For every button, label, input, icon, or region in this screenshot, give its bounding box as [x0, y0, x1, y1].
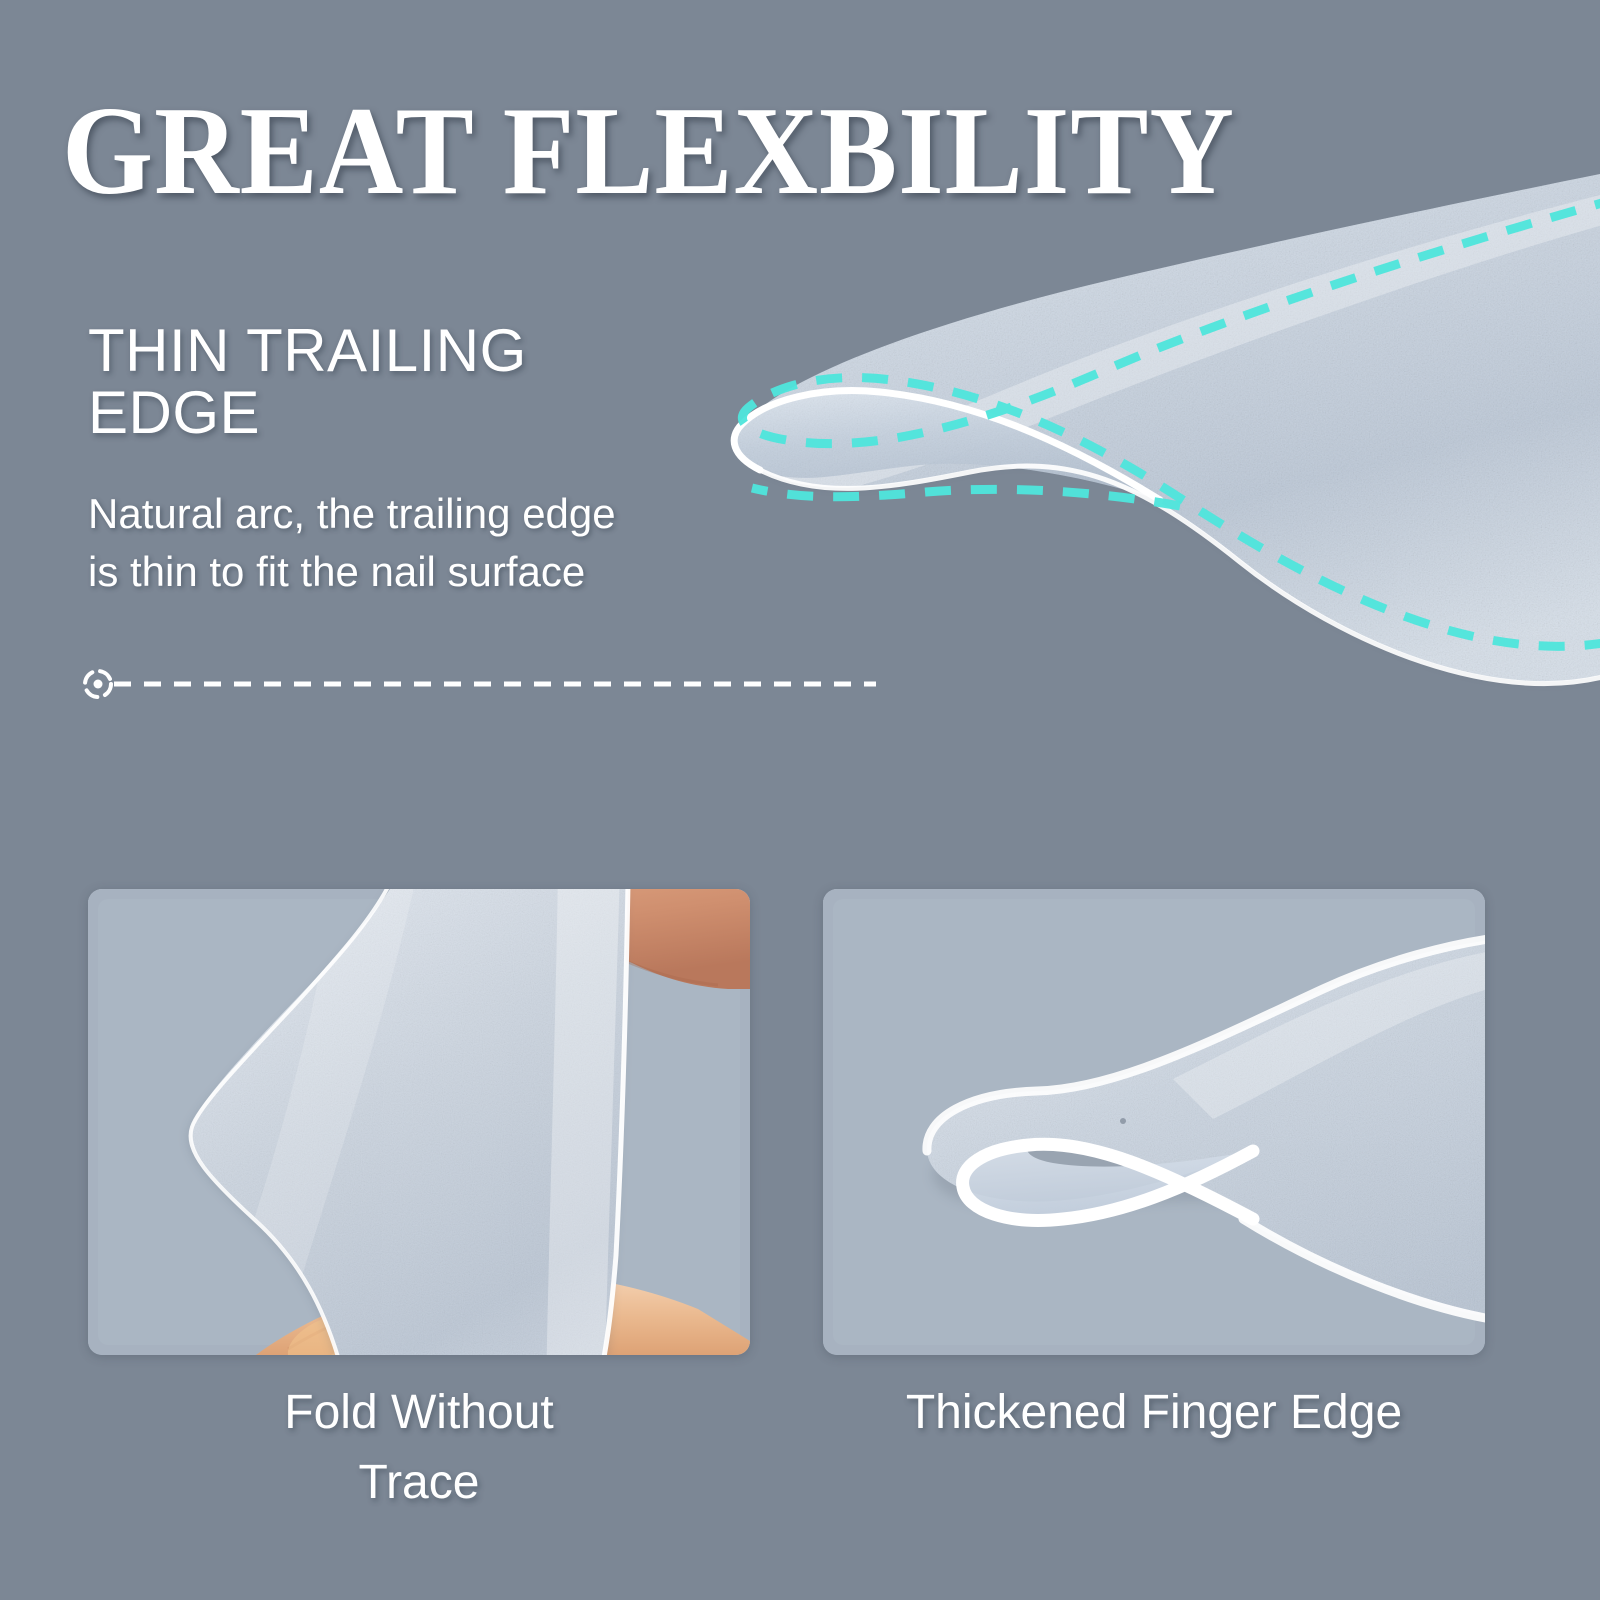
- sticker-bent-between-fingers-illustration: [88, 889, 750, 1355]
- divider-graphic: [78, 662, 878, 706]
- teal-dashed-outline-icon: [742, 198, 1600, 646]
- sticker-looped-thick-edge-illustration: [823, 889, 1485, 1355]
- caption-left-line2: Trace: [88, 1448, 750, 1518]
- section-divider: [78, 662, 878, 706]
- photo-panel-thickened-finger-edge: [823, 889, 1485, 1355]
- feature-description-line1: Natural arc, the trailing edge: [88, 485, 728, 543]
- caption-left-line1: Fold Without: [88, 1378, 750, 1448]
- feature-description-line2: is thin to fit the nail surface: [88, 543, 728, 601]
- target-reticle-icon: [85, 671, 111, 697]
- caption-fold-without-trace: Fold Without Trace: [88, 1378, 750, 1518]
- caption-thickened-finger-edge: Thickened Finger Edge: [823, 1378, 1485, 1448]
- photo-panel-fold-without-trace: [88, 889, 750, 1355]
- hero-edge-highlight: [734, 391, 1160, 500]
- caption-right-line1: Thickened Finger Edge: [823, 1378, 1485, 1448]
- feature-description: Natural arc, the trailing edge is thin t…: [88, 485, 728, 601]
- feature-heading-line2: EDGE: [88, 382, 708, 444]
- hero-film-underside: [734, 391, 1160, 500]
- hero-shadow: [760, 180, 1600, 684]
- feature-heading: THIN TRAILING EDGE: [88, 320, 708, 444]
- feature-heading-line1: THIN TRAILING: [88, 320, 708, 382]
- product-infographic: GREAT FLEXBILITY THIN TRAILING EDGE Natu…: [0, 0, 1600, 1600]
- page-title: GREAT FLEXBILITY: [62, 88, 1457, 217]
